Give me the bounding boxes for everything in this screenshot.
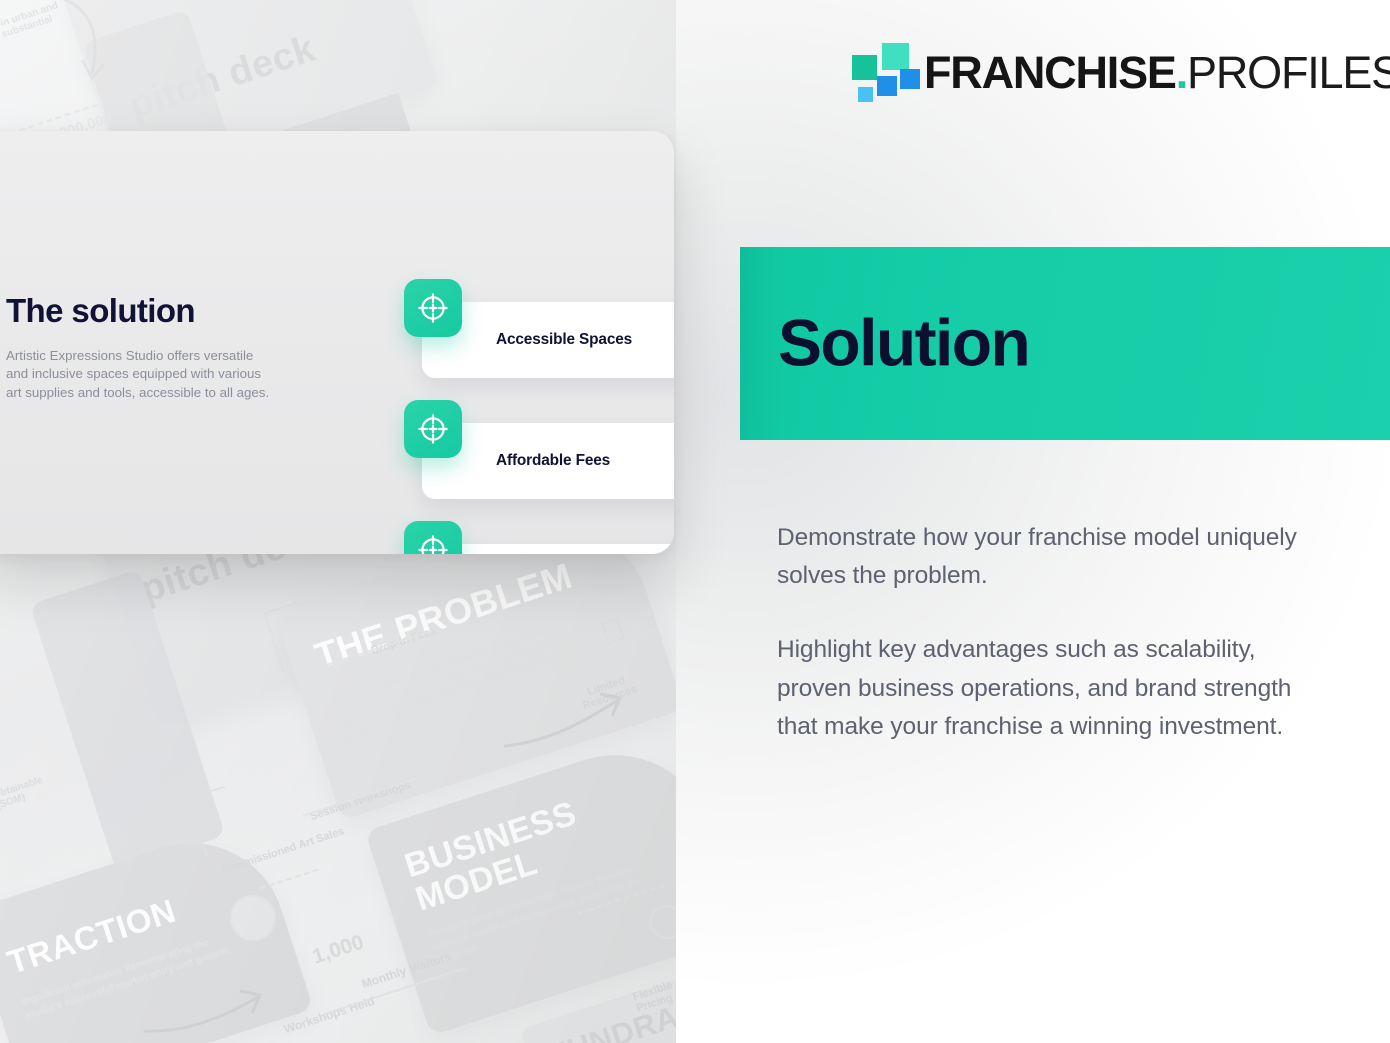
feature-row-affordable-fees[interactable]: Affordable Fees	[404, 423, 674, 499]
slide-canvas: pitch deck pitch deck THE PROBLEM Many i…	[0, 0, 1390, 1043]
crosshair-target-icon	[404, 521, 462, 554]
section-banner: Solution	[740, 247, 1390, 440]
bg-number: 1,000	[310, 930, 367, 969]
crosshair-target-icon	[404, 400, 462, 458]
crosshair-target-icon	[404, 279, 462, 337]
slide-preview-surface: The solution Artistic Expressions Studio…	[0, 131, 674, 554]
description-paragraph-1: Demonstrate how your franchise model uni…	[777, 519, 1317, 595]
brand-name-bold: FRANCHISE	[924, 50, 1176, 95]
brand-logo[interactable]: FRANCHISE.PROFILES	[852, 41, 1390, 103]
feature-row-accessible-spaces[interactable]: Accessible Spaces	[404, 302, 674, 378]
bg-curved-arrow-icon	[18, 0, 128, 98]
feature-row-professional-guidance[interactable]: Professional Guidance	[404, 544, 674, 554]
bg-curved-arrow-icon	[500, 680, 630, 760]
feature-label: Accessible Spaces	[496, 331, 632, 349]
squares-mark-icon	[852, 42, 908, 102]
feature-label: Affordable Fees	[496, 452, 610, 470]
description-paragraph-2: Highlight key advantages such as scalabi…	[777, 631, 1317, 746]
brand-name-light: PROFILES	[1187, 50, 1390, 95]
bg-curved-arrow-icon	[140, 975, 270, 1043]
bg-label: Obtainable (SOM)	[0, 775, 48, 812]
brand-name-dot: .	[1176, 50, 1187, 95]
logo-square-teal-dark	[852, 55, 877, 80]
logo-square-teal-bright	[882, 43, 909, 70]
section-description: Demonstrate how your franchise model uni…	[777, 519, 1317, 746]
bg-dashed-line	[259, 868, 319, 889]
logo-square-blue-right	[900, 69, 920, 89]
preview-subtitle: Artistic Expressions Studio offers versa…	[6, 347, 326, 402]
preview-title: The solution	[6, 292, 195, 330]
logo-square-blue-mid	[877, 76, 897, 96]
logo-square-blue-light	[858, 87, 873, 102]
page-title: Solution	[778, 304, 1029, 380]
brand-wordmark: FRANCHISE.PROFILES	[924, 50, 1390, 95]
slide-preview-card[interactable]: The solution Artistic Expressions Studio…	[0, 131, 674, 554]
